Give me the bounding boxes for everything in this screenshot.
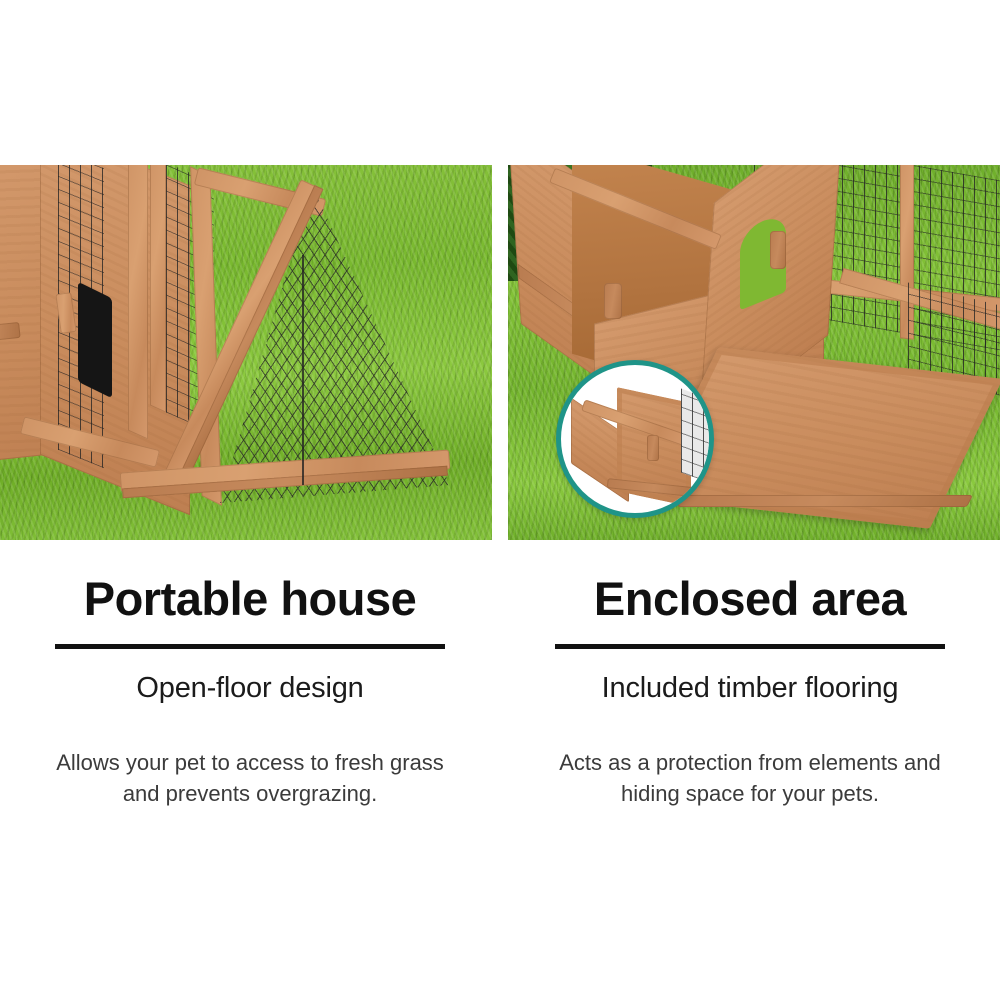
hutch-frame-upright-mid <box>128 165 148 439</box>
product-photo-enclosed-area[interactable] <box>508 165 1000 540</box>
hinge-left <box>604 283 622 319</box>
feature-heading-left: Portable house <box>0 575 500 622</box>
feature-text-band: Portable house Open-floor design Allows … <box>0 555 1000 855</box>
mesh-center-wire <box>302 255 304 485</box>
feature-subheading-left: Open-floor design <box>0 673 500 705</box>
hinge-right <box>770 231 786 269</box>
hutch-frame-upright-mid2 <box>150 165 166 413</box>
feature-column-right: Enclosed area Included timber flooring A… <box>500 555 1000 855</box>
product-feature-page: Portable house Open-floor design Allows … <box>0 0 1000 1000</box>
feature-heading-right: Enclosed area <box>500 575 1000 622</box>
feature-column-left: Portable house Open-floor design Allows … <box>0 555 500 855</box>
timber-floor-edge <box>677 495 973 507</box>
heading-divider-right <box>555 644 945 649</box>
inset-closeup-badge[interactable] <box>556 360 714 518</box>
photo-band <box>0 165 1000 540</box>
hutch-door-opening <box>78 282 112 399</box>
feature-body-right: Acts as a protection from elements and h… <box>500 747 1000 809</box>
heading-divider-left <box>55 644 445 649</box>
feature-body-left: Allows your pet to access to fresh grass… <box>0 747 500 809</box>
feature-subheading-right: Included timber flooring <box>500 673 1000 705</box>
inset-hinge <box>647 435 659 461</box>
inset-closeup-image <box>561 365 709 513</box>
product-photo-portable-house[interactable] <box>0 165 492 540</box>
